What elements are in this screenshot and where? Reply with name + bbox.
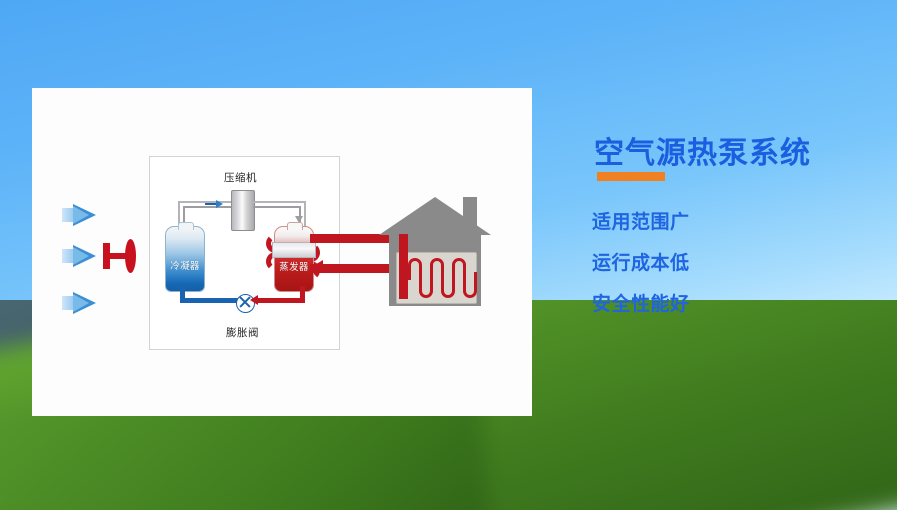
air-arrow-middle (62, 245, 96, 267)
liquid-line-arrow-head (178, 286, 188, 294)
evaporator-heat-exchanger-band (272, 242, 316, 258)
hot-line-to-valve (257, 298, 305, 303)
house-roof (379, 197, 491, 235)
condenser-body: 冷凝器 (165, 226, 205, 292)
evaporator-label: 蒸发器 (275, 259, 313, 273)
air-arrow-top (62, 204, 96, 226)
fan-blade (125, 239, 136, 273)
condenser-cap (178, 222, 194, 230)
floor-riser-down (399, 255, 408, 299)
floor-coil-d3 (463, 272, 477, 298)
gas-pipe-top-right (253, 206, 301, 208)
gas-pipe-top-left (183, 206, 233, 208)
title-underline-rule (597, 172, 665, 181)
gas-pipe-right-outer (304, 201, 306, 229)
slide-canvas: 压缩机 冷凝器 蒸发器 膨胀阀 (0, 0, 897, 510)
fan-icon (103, 238, 139, 274)
condenser-label: 冷凝器 (166, 258, 204, 272)
hot-line-evaporator-drop (300, 286, 305, 303)
compressor-body (231, 190, 255, 231)
page-title: 空气源热泵系统 (594, 128, 811, 172)
feature-item-3: 安全性能好 (592, 289, 690, 316)
feature-item-2: 运行成本低 (592, 248, 690, 275)
gas-flow-arrow-head (216, 200, 223, 208)
gas-pipe-top-right-outer (253, 201, 306, 203)
evaporator-cap (287, 222, 303, 230)
liquid-line-to-valve (180, 298, 238, 303)
compressor-label: 压缩机 (224, 170, 257, 185)
air-arrow-bottom (62, 292, 96, 314)
arrow-head-highlight (73, 206, 89, 224)
arrow-head-highlight (73, 294, 89, 312)
return-main-arrow-head (313, 260, 323, 272)
feature-item-1: 适用范围广 (592, 207, 690, 234)
evaporator-body: 蒸发器 (274, 226, 314, 292)
expansion-valve-label: 膨胀阀 (226, 325, 259, 340)
hot-line-arrow-head (250, 295, 258, 305)
arrow-head-highlight (73, 247, 89, 265)
